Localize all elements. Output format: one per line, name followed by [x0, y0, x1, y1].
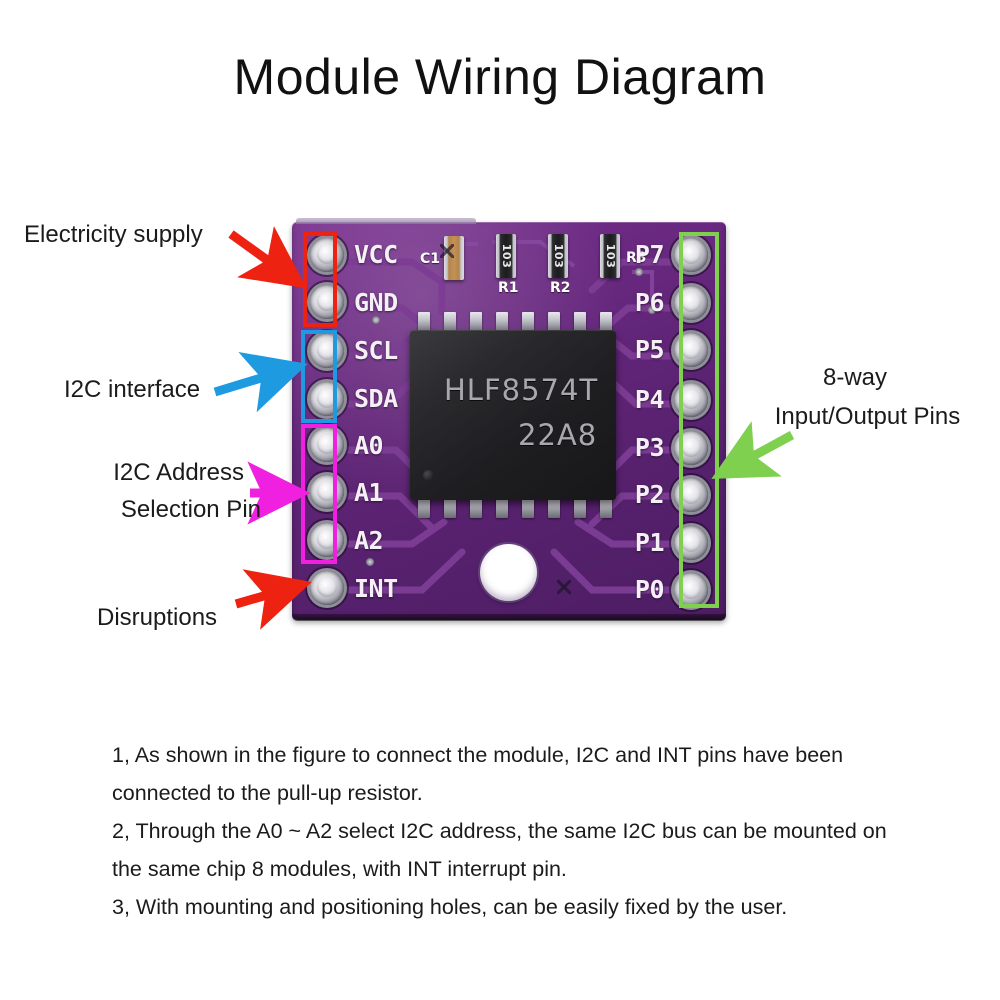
silk-label-p5: P5 [592, 335, 664, 364]
annotation-address-label-line1: I2C Address [0, 456, 244, 489]
arrow-i2c [215, 368, 294, 392]
annotation-i2c-label: I2C interface [64, 373, 200, 406]
silk-label-a2: A2 [354, 526, 383, 555]
via [372, 316, 380, 324]
silk-label-scl: SCL [354, 336, 398, 365]
pcb-board: 103 103 103 C1 R1 R2 R3 HLF8574T [292, 222, 726, 620]
silk-label-p1: P1 [592, 528, 664, 557]
ic-part-number: HLF8574T [444, 373, 598, 407]
fiducial-mark [440, 244, 454, 258]
highlight-box-address [301, 424, 337, 564]
capacitor-c1 [444, 236, 464, 280]
resistor-r1: 103 [496, 234, 516, 278]
usage-note-1: 1, As shown in the figure to connect the… [112, 736, 912, 812]
silk-label-p2: P2 [592, 480, 664, 509]
silk-r2: R2 [550, 280, 571, 296]
ic-chip: HLF8574T 22A8 [410, 330, 616, 500]
silk-label-sda: SDA [354, 384, 398, 413]
highlight-box-i2c [301, 330, 337, 423]
usage-notes: 1, As shown in the figure to connect the… [112, 736, 912, 926]
usage-note-3: 3, With mounting and positioning holes, … [112, 888, 912, 926]
via [635, 268, 643, 276]
usage-note-2: 2, Through the A0 ~ A2 select I2C addres… [112, 812, 912, 888]
arrow-power [231, 234, 295, 280]
highlight-box-io [679, 232, 719, 608]
silk-label-p4: P4 [592, 385, 664, 414]
annotation-interrupt-label: Disruptions [97, 601, 217, 634]
silk-label-p3: P3 [592, 433, 664, 462]
silk-label-a1: A1 [354, 478, 383, 507]
silk-r1: R1 [498, 280, 519, 296]
pad-int[interactable] [310, 571, 344, 605]
via [366, 558, 374, 566]
arrow-io [724, 435, 792, 472]
highlight-box-power [303, 232, 337, 327]
pcb-bottom-edge [292, 614, 726, 621]
silk-label-vcc: VCC [354, 240, 398, 269]
silk-label-p0: P0 [592, 575, 664, 604]
annotation-power-label: Electricity supply [24, 218, 203, 251]
silk-label-p7: P7 [592, 240, 664, 269]
silk-label-gnd: GND [354, 288, 398, 317]
annotation-io-label-line1: 8-way [745, 361, 965, 394]
ic-date-code: 22A8 [518, 418, 597, 452]
ic-pin1-dot [423, 470, 434, 481]
resistor-r2: 103 [548, 234, 568, 278]
fiducial-mark [557, 580, 571, 594]
wiring-diagram: 103 103 103 C1 R1 R2 R3 HLF8574T [0, 0, 1000, 700]
mounting-hole [480, 544, 537, 601]
silk-label-a0: A0 [354, 431, 383, 460]
resistor-r1-code: 103 [496, 234, 516, 278]
silk-c1: C1 [420, 251, 440, 267]
arrow-interrupt [236, 586, 298, 604]
silk-label-p6: P6 [592, 288, 664, 317]
silk-label-int: INT [354, 574, 398, 603]
resistor-r2-code: 103 [548, 234, 568, 278]
annotation-address-label-line2: Selection Pin [0, 493, 261, 526]
annotation-io-label-line2: Input/Output Pins [740, 400, 995, 433]
